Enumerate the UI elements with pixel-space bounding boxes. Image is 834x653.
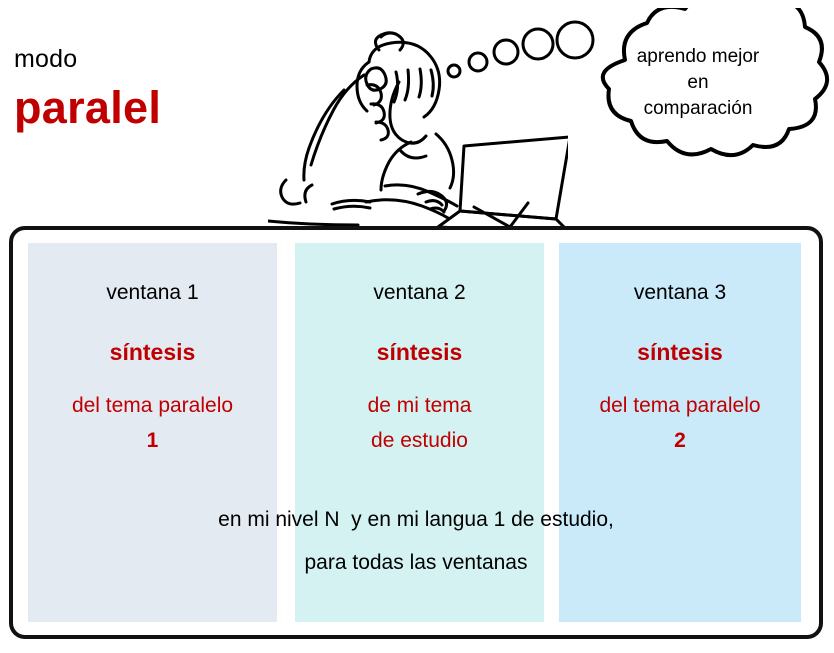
window-3-sintesis-label: síntesis — [559, 339, 801, 366]
header-area: modo paralel — [0, 0, 834, 227]
window-1-description: del tema paralelo 1 — [28, 388, 277, 458]
cloud-line-1: aprendo mejor — [596, 44, 800, 70]
cloud-line-2: en — [596, 70, 800, 96]
footer-line-2: para todas las ventanas — [9, 541, 823, 584]
mode-name: paralel — [14, 82, 274, 134]
footer-line-1: en mi nivel N y en mi langua 1 de estudi… — [9, 498, 823, 541]
thought-cloud-text: aprendo mejor en comparación — [596, 44, 800, 122]
window-2-desc-line-1: de mi tema — [295, 388, 544, 423]
window-3-title: ventana 3 — [559, 281, 801, 305]
window-3-desc-line-2: 2 — [559, 423, 801, 458]
mode-label: modo — [14, 44, 274, 74]
window-1-desc-line-1: del tema paralelo — [28, 388, 277, 423]
footer-note: en mi nivel N y en mi langua 1 de estudi… — [9, 498, 823, 584]
title-block: modo paralel — [14, 44, 274, 134]
window-1-sintesis-label: síntesis — [28, 339, 277, 366]
window-2-desc-line-2: de estudio — [295, 423, 544, 458]
window-2-sintesis-label: síntesis — [295, 339, 544, 366]
cloud-line-3: comparación — [596, 96, 800, 122]
window-1-desc-line-2: 1 — [28, 423, 277, 458]
window-2-title: ventana 2 — [295, 281, 544, 305]
window-2-description: de mi tema de estudio — [295, 388, 544, 458]
window-3-description: del tema paralelo 2 — [559, 388, 801, 458]
window-1-title: ventana 1 — [28, 281, 277, 305]
window-3-desc-line-1: del tema paralelo — [559, 388, 801, 423]
